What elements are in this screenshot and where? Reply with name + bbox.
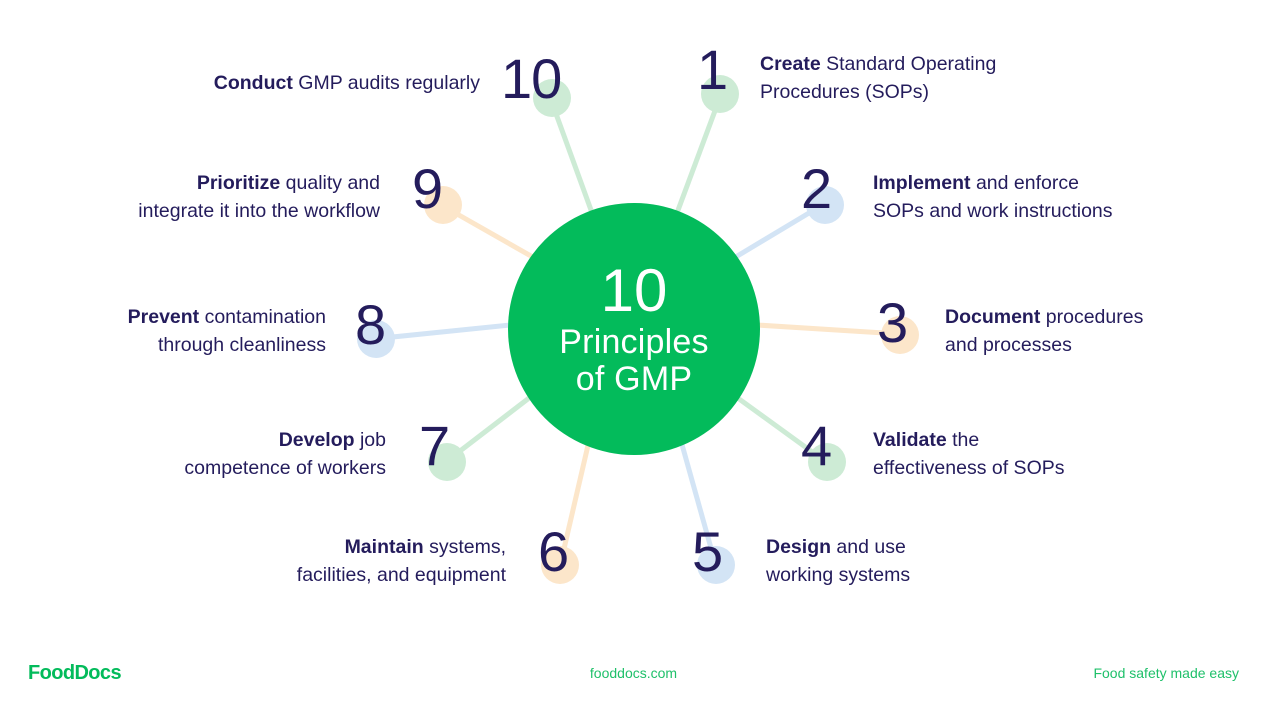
principle-lead-5: Design bbox=[766, 536, 831, 558]
principle-text-10: Conduct GMP audits regularly bbox=[100, 70, 480, 98]
footer-website[interactable]: fooddocs.com bbox=[0, 665, 1267, 681]
principle-text-3: Document procedures and processes bbox=[945, 304, 1267, 359]
badge-number-9: 9 bbox=[412, 161, 442, 217]
badge-number-8: 8 bbox=[355, 297, 385, 353]
principle-lead-1: Create bbox=[760, 53, 821, 75]
badge-number-1: 1 bbox=[697, 42, 727, 98]
principle-lead-9: Prioritize bbox=[197, 172, 280, 194]
badge-number-3: 3 bbox=[877, 295, 907, 351]
hub-line-1: Principles bbox=[559, 325, 708, 360]
hub-line-2: of GMP bbox=[576, 362, 692, 397]
badge-number-2: 2 bbox=[801, 161, 831, 217]
principle-lead-7: Develop bbox=[279, 429, 355, 451]
badge-number-10: 10 bbox=[501, 51, 561, 107]
principle-text-5: Design and use working systems bbox=[766, 534, 1096, 589]
principle-text-6: Maintain systems, facilities, and equipm… bbox=[180, 534, 506, 589]
principle-text-7: Develop job competence of workers bbox=[80, 427, 386, 482]
principle-lead-6: Maintain bbox=[345, 536, 424, 558]
principle-lead-2: Implement bbox=[873, 172, 971, 194]
connector-line-10 bbox=[551, 100, 595, 221]
principle-text-9: Prioritize quality and integrate it into… bbox=[20, 170, 380, 225]
footer-tagline: Food safety made easy bbox=[1093, 665, 1239, 681]
hub-circle: 10 Principles of GMP bbox=[508, 203, 760, 455]
principle-text-4: Validate the effectiveness of SOPs bbox=[873, 427, 1203, 482]
hub-number: 10 bbox=[601, 260, 668, 322]
principle-rest-10: GMP audits regularly bbox=[293, 72, 480, 94]
infographic-canvas: 10 Principles of GMP 1 Create Standard O… bbox=[0, 0, 1267, 701]
principle-lead-8: Prevent bbox=[128, 306, 200, 328]
principle-text-2: Implement and enforce SOPs and work inst… bbox=[873, 170, 1203, 225]
principle-text-8: Prevent contamination through cleanlines… bbox=[20, 304, 326, 359]
principle-lead-4: Validate bbox=[873, 429, 947, 451]
badge-number-4: 4 bbox=[801, 418, 831, 474]
principle-lead-3: Document bbox=[945, 306, 1040, 328]
badge-number-7: 7 bbox=[419, 418, 449, 474]
principle-text-1: Create Standard Operating Procedures (SO… bbox=[760, 51, 1090, 106]
connector-line-1 bbox=[674, 100, 719, 221]
principle-lead-10: Conduct bbox=[214, 72, 293, 94]
badge-number-5: 5 bbox=[692, 524, 722, 580]
badge-number-6: 6 bbox=[538, 524, 568, 580]
